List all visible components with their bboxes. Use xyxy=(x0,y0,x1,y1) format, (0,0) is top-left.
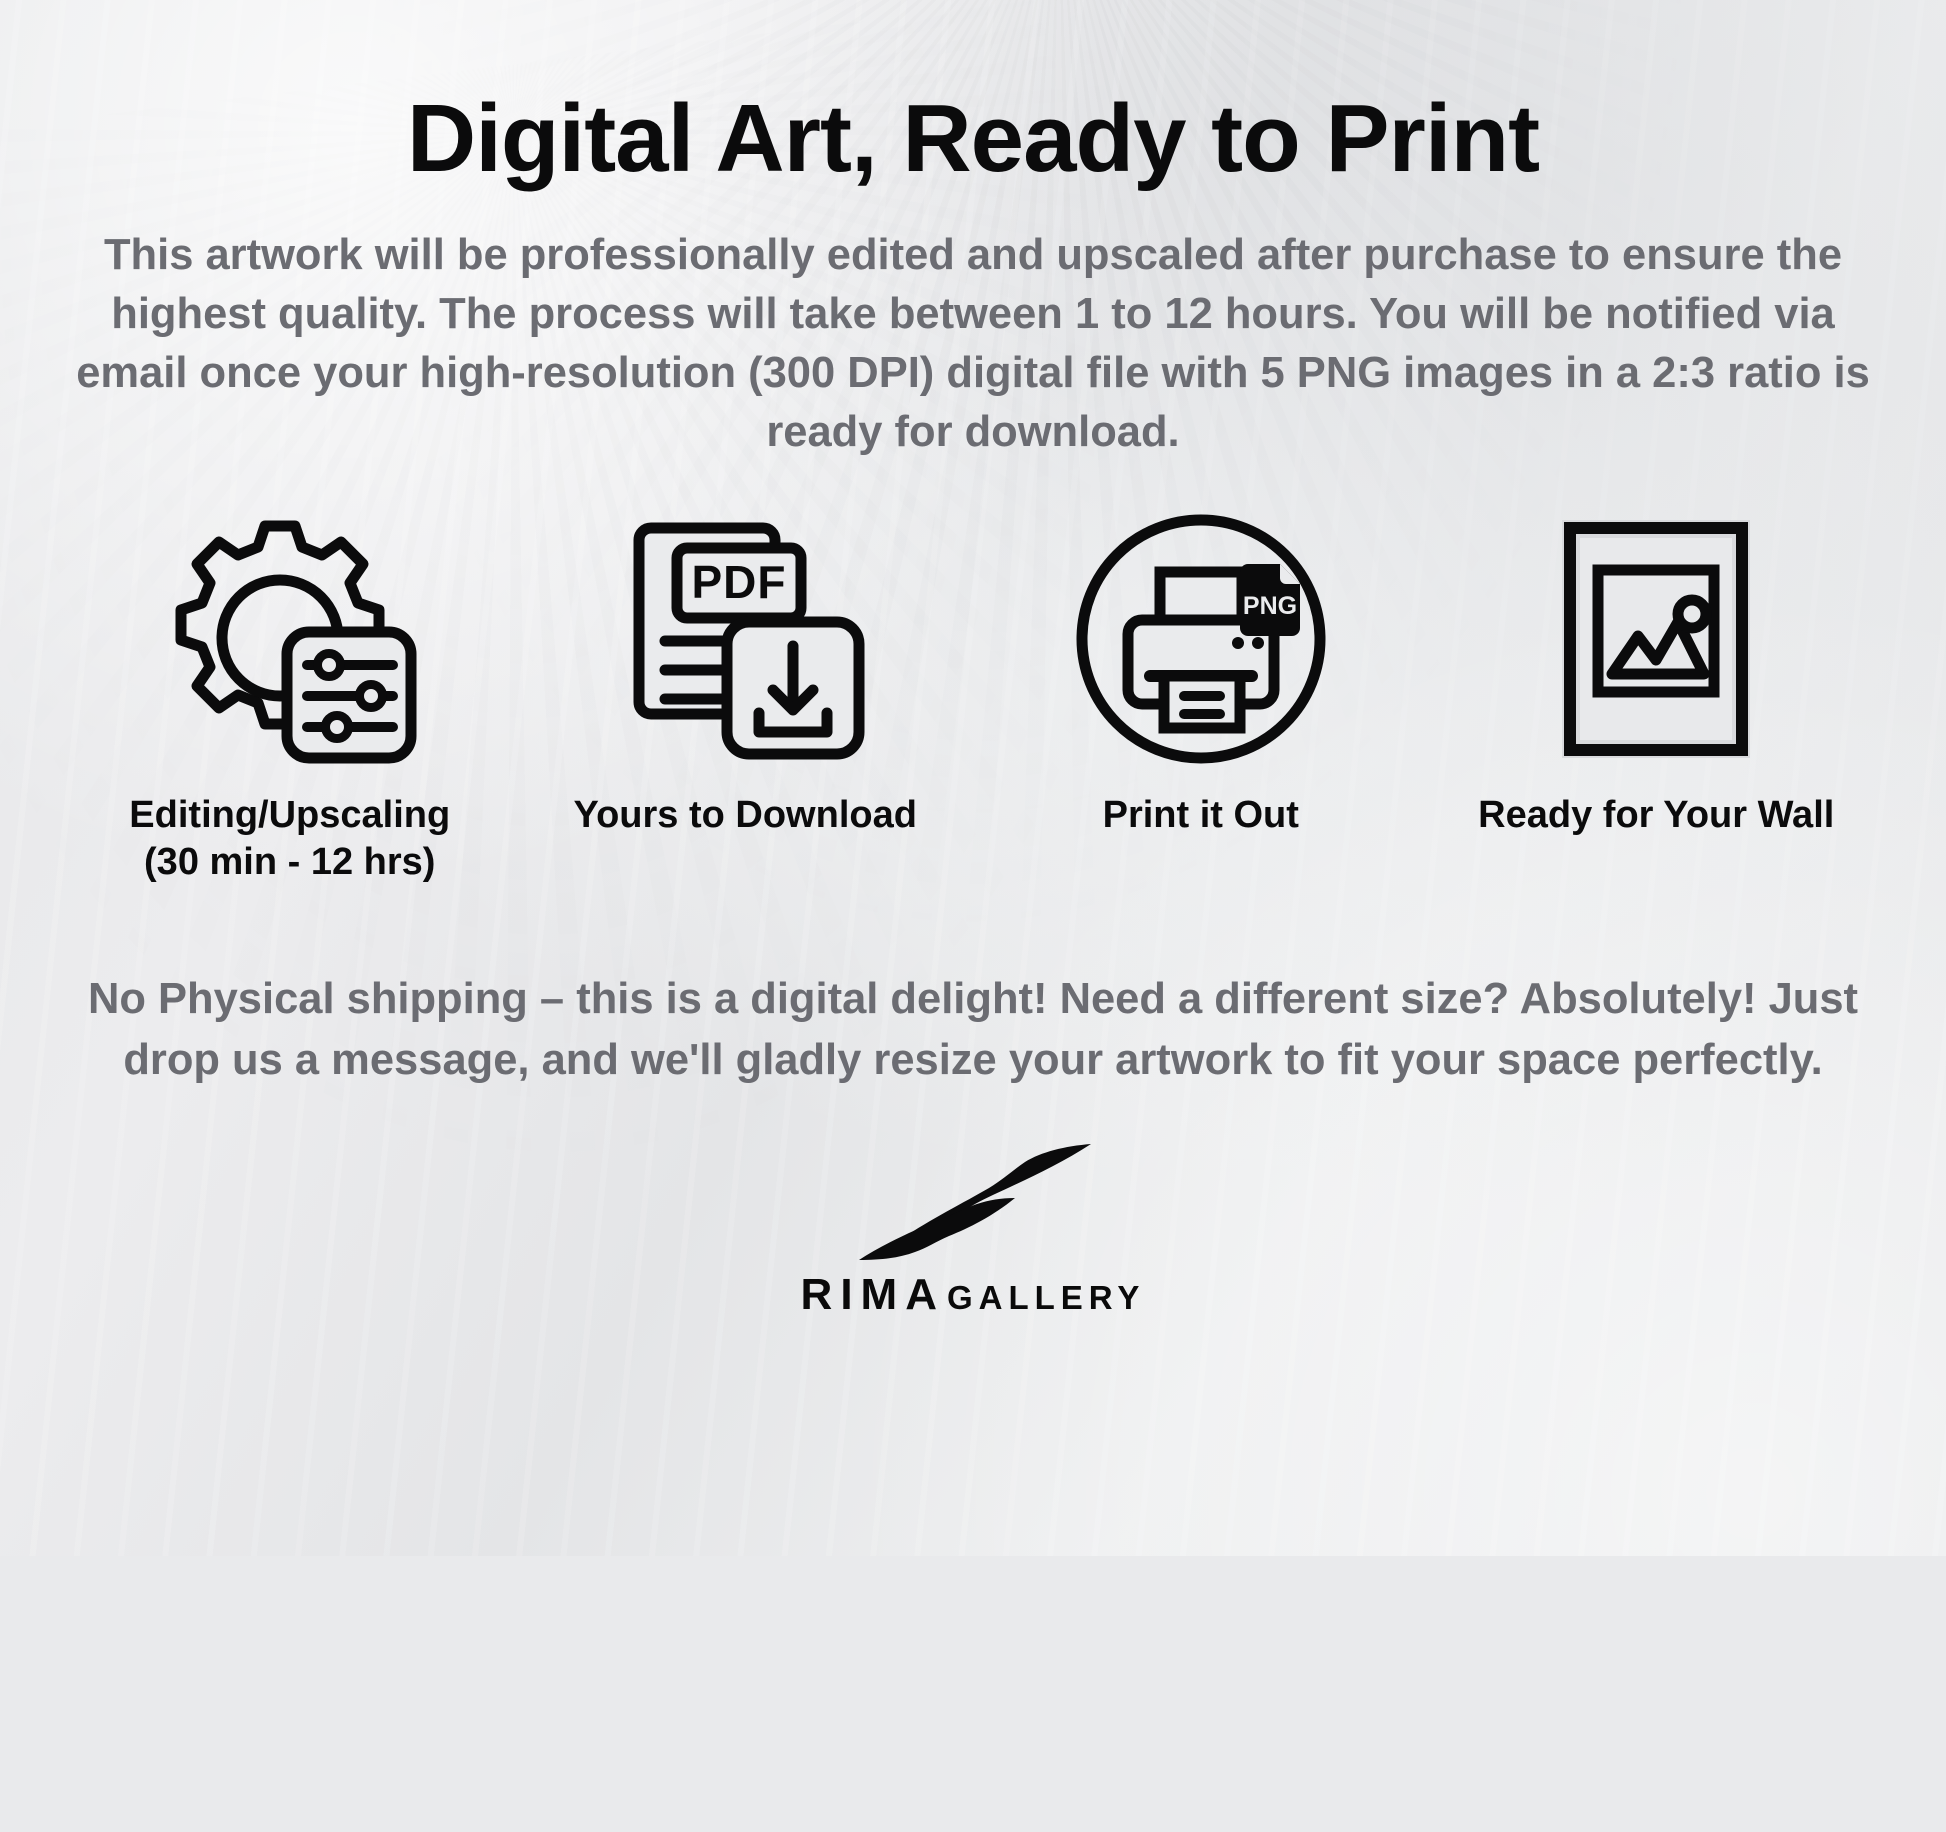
feature-item-download: PDF Yours to Download xyxy=(518,508,974,839)
intro-paragraph: This artwork will be professionally edit… xyxy=(58,226,1888,463)
promo-card: Digital Art, Ready to Print This artwork… xyxy=(0,0,1946,1556)
feature-label: Editing/Upscaling (30 min - 12 hrs) xyxy=(129,792,450,886)
png-file-badge: PNG xyxy=(1240,564,1300,636)
pdf-badge-label: PDF xyxy=(692,556,787,608)
feature-label: Yours to Download xyxy=(574,792,917,839)
gear-sliders-icon xyxy=(159,510,421,768)
rima-swoosh-icon xyxy=(843,1132,1103,1264)
feature-label: Ready for Your Wall xyxy=(1478,792,1834,839)
feature-item-editing-upscaling: Editing/Upscaling (30 min - 12 hrs) xyxy=(62,508,518,886)
feature-label: Print it Out xyxy=(1103,792,1299,839)
sliders-panel xyxy=(287,632,411,758)
feature-list: Editing/Upscaling (30 min - 12 hrs) PDF xyxy=(58,508,1888,886)
page-title: Digital Art, Ready to Print xyxy=(58,0,1888,190)
brand-name-secondary: GALLERY xyxy=(947,1279,1145,1317)
feature-icon-wrap xyxy=(159,508,421,770)
feature-icon-wrap xyxy=(1556,508,1756,770)
brand-name-primary: RIMA xyxy=(801,1270,945,1320)
brand-logo: RIMA GALLERY xyxy=(58,1132,1888,1320)
png-badge-label: PNG xyxy=(1243,592,1297,620)
pdf-download-icon: PDF xyxy=(615,510,875,768)
feature-icon-wrap: PDF xyxy=(615,508,875,770)
outro-paragraph: No Physical shipping – this is a digital… xyxy=(58,969,1888,1093)
printer-circle-icon: PNG xyxy=(1072,510,1330,768)
feature-item-wall: Ready for Your Wall xyxy=(1429,508,1885,839)
feature-icon-wrap: PNG xyxy=(1072,508,1330,770)
brand-wordmark: RIMA GALLERY xyxy=(801,1270,1146,1320)
framed-picture-icon xyxy=(1556,514,1756,764)
feature-item-print: PNG Print it Out xyxy=(973,508,1429,839)
